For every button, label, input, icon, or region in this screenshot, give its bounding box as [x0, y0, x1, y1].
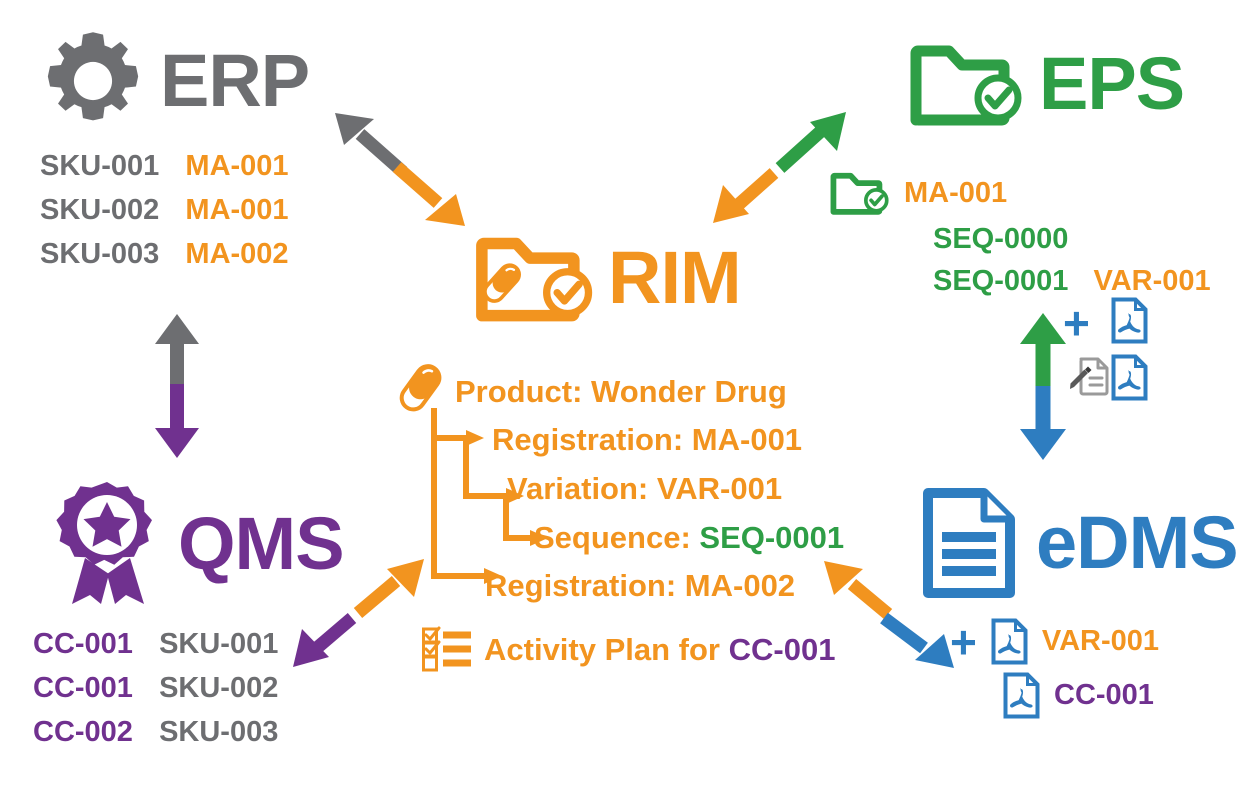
qms-row-sku: SKU-003	[159, 716, 278, 748]
rim-tree-item-sequence: Sequence: SEQ-0001	[534, 522, 844, 553]
qms-rim-arrow	[288, 557, 430, 669]
eps-sequence: SEQ-0001	[933, 265, 1068, 297]
gear-icon	[40, 28, 146, 134]
eps-sequence: SEQ-0000	[933, 223, 1068, 255]
rim-product-label: Product: Wonder Drug	[455, 376, 787, 407]
erp-data-list: SKU-001 MA-001 SKU-002 MA-001 SKU-003 MA…	[40, 152, 289, 269]
eps-edms-arrow	[1016, 310, 1070, 462]
erp-row-ma: MA-001	[185, 150, 288, 182]
erp-qms-arrow	[150, 312, 204, 460]
system-title-edms: eDMS	[1036, 506, 1238, 580]
edms-doc-label: VAR-001	[1042, 627, 1159, 656]
pdf-icon	[991, 618, 1028, 665]
erp-row-ma: MA-002	[185, 238, 288, 270]
rim-tree-item-registration-2: Registration: MA-002	[485, 570, 795, 601]
system-rim: RIM	[470, 232, 741, 324]
rim-eps-arrow	[708, 110, 853, 225]
system-edms: eDMS	[922, 488, 1238, 598]
system-erp: ERP	[40, 28, 309, 134]
erp-row-ma: MA-001	[185, 194, 288, 226]
pdf-icon	[1111, 297, 1148, 344]
signed-document-icon	[1067, 354, 1113, 398]
folder-pill-check-icon	[470, 232, 592, 324]
list-item: CC-002 SKU-003	[33, 718, 278, 747]
erp-row-sku: SKU-003	[40, 238, 159, 270]
award-ribbon-icon	[52, 480, 164, 608]
rim-edms-arrow	[818, 558, 960, 670]
qms-row-cc: CC-001	[33, 672, 133, 704]
list-item: SEQ-0000	[933, 225, 1211, 254]
qms-row-cc: CC-002	[33, 716, 133, 748]
activity-plan-prefix: Activity Plan for	[484, 632, 729, 667]
list-item: SEQ-0001 VAR-001	[933, 267, 1211, 296]
erp-rim-arrow	[325, 108, 475, 233]
system-title-rim: RIM	[608, 241, 741, 315]
rim-sequence-label: Sequence:	[534, 520, 699, 555]
rim-activity-plan-row: Activity Plan for CC-001	[422, 627, 835, 671]
list-item: CC-001 SKU-001	[33, 630, 278, 659]
erp-row-sku: SKU-002	[40, 194, 159, 226]
eps-variation: VAR-001	[1094, 265, 1211, 297]
folder-check-icon	[905, 40, 1021, 128]
list-item: SKU-002 MA-001	[40, 196, 289, 225]
qms-data-list: CC-001 SKU-001 CC-001 SKU-002 CC-002 SKU…	[33, 630, 278, 747]
rim-activity-plan-label: Activity Plan for CC-001	[484, 634, 835, 665]
eps-registration: MA-001	[904, 179, 1007, 208]
list-item: SKU-001 MA-001	[40, 152, 289, 181]
system-title-eps: EPS	[1039, 47, 1184, 121]
eps-data-list: MA-001 SEQ-0000 SEQ-0001 VAR-001	[818, 170, 1211, 296]
system-eps: EPS	[905, 40, 1184, 128]
edms-doc-label: CC-001	[1054, 681, 1154, 710]
qms-row-sku: SKU-001	[159, 628, 278, 660]
rim-tree-item-variation: Variation: VAR-001	[507, 473, 782, 504]
list-item: SKU-003 MA-002	[40, 240, 289, 269]
pdf-icon	[1003, 672, 1040, 719]
system-title-erp: ERP	[160, 44, 309, 118]
qms-row-sku: SKU-002	[159, 672, 278, 704]
list-item: CC-001 SKU-002	[33, 674, 278, 703]
rim-tree-item-registration-1: Registration: MA-001	[492, 424, 802, 455]
qms-row-cc: CC-001	[33, 628, 133, 660]
edms-document-list: + VAR-001 CC-001	[950, 618, 1159, 719]
erp-row-sku: SKU-001	[40, 150, 159, 182]
rim-sequence-value: SEQ-0001	[699, 520, 844, 555]
pdf-icon	[1111, 354, 1148, 401]
